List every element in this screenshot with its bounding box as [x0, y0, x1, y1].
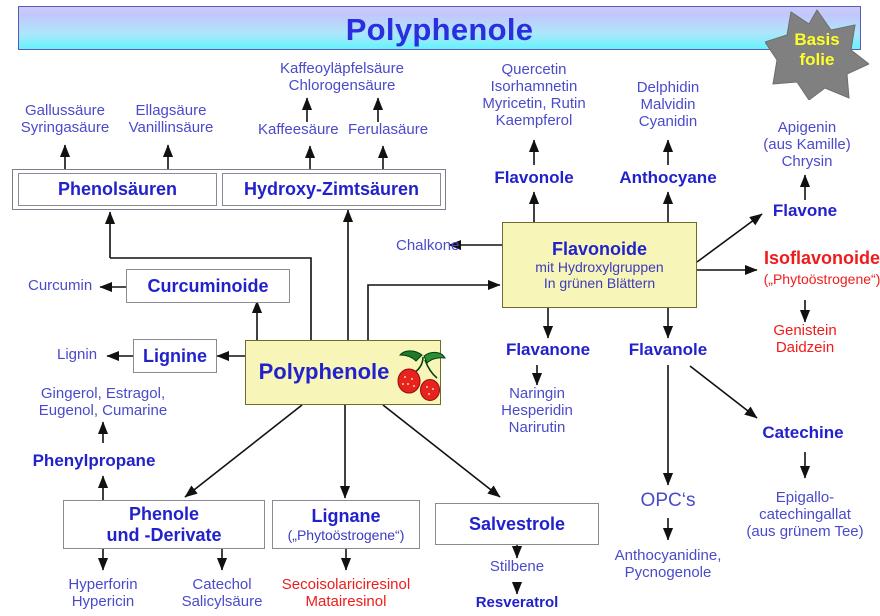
box-polyphenole-center-label: Polyphenole	[259, 360, 390, 385]
label-delphidin-group: Delphidin Malvidin Cyanidin	[637, 80, 700, 131]
label-curcumin: Curcumin	[28, 278, 92, 295]
label-epigallo-group: Epigallo- catechingallat (aus grünem Tee…	[746, 490, 863, 541]
label-chalkone: Chalkone	[396, 238, 459, 255]
label-gingerol-group: Gingerol, Estragol, Eugenol, Cumarine	[39, 386, 167, 420]
diagram-canvas: Polyphenole Basis folie	[0, 0, 880, 616]
box-salvestrole-label: Salvestrole	[469, 514, 565, 534]
box-hydroxy-zimtsaeuren-label: Hydroxy-Zimtsäuren	[244, 179, 419, 199]
category-flavanole: Flavanole	[629, 340, 707, 359]
strawberry-icon	[392, 347, 446, 403]
box-phenole-line1: Phenole	[129, 504, 199, 524]
label-isoflavonoide-sub: („Phytoöstrogene“)	[764, 272, 880, 288]
box-salvestrole[interactable]: Salvestrole	[435, 503, 599, 545]
box-flavonoide-title: Flavonoide	[552, 239, 647, 259]
box-lignane-title: Lignane	[311, 506, 380, 526]
category-catechine: Catechine	[762, 423, 843, 442]
box-lignine[interactable]: Lignine	[133, 339, 217, 373]
category-phenylpropane: Phenylpropane	[33, 451, 156, 470]
box-hydroxy-zimtsaeuren[interactable]: Hydroxy-Zimtsäuren	[222, 173, 441, 206]
box-phenole-line2: und -Derivate	[106, 525, 221, 545]
box-flavonoide-sub1: mit Hydroxylgruppen	[535, 259, 663, 275]
box-lignine-label: Lignine	[143, 346, 207, 366]
category-opcs: OPC‘s	[641, 490, 696, 511]
label-secoisolariciresinol-group: Secoisolariciresinol Matairesinol	[282, 577, 410, 611]
label-kaffeesaeure: Kaffeesäure	[258, 122, 339, 139]
label-lignin: Lignin	[57, 347, 97, 364]
label-gallussaeure: Gallussäure Syringasäure	[21, 103, 109, 137]
box-flavonoide-sub2: In grünen Blättern	[544, 275, 655, 291]
box-phenolsaeuren-label: Phenolsäuren	[58, 179, 177, 199]
label-hyperforin-group: Hyperforin Hypericin	[68, 577, 137, 611]
category-flavone: Flavone	[773, 201, 837, 220]
box-curcuminoide-label: Curcuminoide	[147, 276, 268, 296]
box-lignane[interactable]: Lignane („Phytoöstrogene“)	[272, 500, 420, 549]
label-stilbene: Stilbene	[490, 559, 544, 576]
label-apigenin-group: Apigenin (aus Kamille) Chrysin	[763, 120, 851, 171]
label-catechol-group: Catechol Salicylsäure	[182, 577, 263, 611]
category-flavonole: Flavonole	[494, 168, 573, 187]
box-curcuminoide[interactable]: Curcuminoide	[126, 269, 290, 303]
box-phenole-derivate[interactable]: Phenole und -Derivate	[63, 500, 265, 549]
category-isoflavonoide: Isoflavonoide	[764, 248, 880, 268]
category-flavanone: Flavanone	[506, 340, 590, 359]
label-ferulasaeure: Ferulasäure	[348, 122, 428, 139]
label-genistein-daidzein: Genistein Daidzein	[773, 323, 836, 357]
label-ellagsaeure: Ellagsäure Vanillinsäure	[129, 103, 214, 137]
label-quercetin-group: Quercetin Isorhamnetin Myricetin, Rutin …	[482, 62, 585, 130]
label-kaffeoylaepfelsaeure: Kaffeoyläpfelsäure Chlorogensäure	[280, 61, 404, 95]
label-naringin-group: Naringin Hesperidin Narirutin	[501, 386, 573, 437]
box-phenolsaeuren[interactable]: Phenolsäuren	[18, 173, 217, 206]
label-resveratrol: Resveratrol	[476, 595, 559, 612]
label-anthocyanidine-group: Anthocyanidine, Pycnogenole	[615, 548, 722, 582]
category-anthocyane: Anthocyane	[619, 168, 716, 187]
box-flavonoide[interactable]: Flavonoide mit Hydroxylgruppen In grünen…	[502, 222, 697, 308]
box-lignane-sub: („Phytoöstrogene“)	[288, 527, 405, 543]
